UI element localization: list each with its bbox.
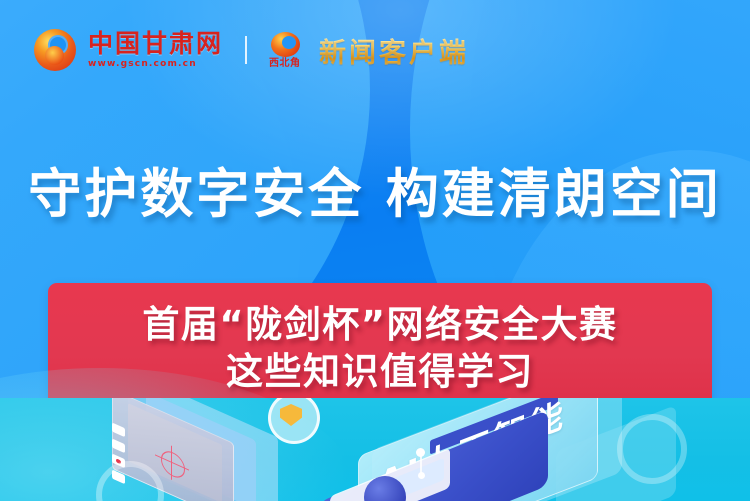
crosshair-ring	[161, 447, 185, 482]
crosshair-vertical	[171, 446, 172, 481]
logo-divider	[245, 36, 247, 64]
brand-name: 中国甘肃网	[88, 31, 223, 56]
side-button-2	[112, 438, 125, 453]
banner-line-2: 这些知识值得学习	[226, 349, 534, 396]
decorative-ring-right	[617, 414, 687, 484]
gansu-swirl-logo-icon	[34, 29, 76, 71]
xibeijiao-swirl-icon: 西北角	[269, 32, 301, 68]
node-dot-lower	[418, 472, 425, 479]
page-title: 守护数字安全 构建清朗空间	[0, 152, 750, 228]
logo-primary[interactable]: 中国甘肃网 www.gscn.com.cn 西北角 新闻客户端	[34, 29, 469, 71]
brand-url: www.gscn.com.cn	[88, 60, 223, 69]
header: 中国甘肃网 www.gscn.com.cn 西北角 新闻客户端	[0, 0, 750, 100]
poster-root: 中国甘肃网 www.gscn.com.cn 西北角 新闻客户端 守护数字安全 构…	[0, 0, 750, 501]
xibeijiao-tag: 西北角	[269, 54, 301, 69]
illustration: AI人工智能	[0, 398, 750, 501]
banner-line-1: 首届“陇剑杯”网络安全大赛	[142, 302, 617, 349]
node-dot-upper	[416, 448, 425, 457]
brand-gansu: 中国甘肃网 www.gscn.com.cn	[88, 31, 223, 69]
app-name: 新闻客户端	[319, 31, 469, 70]
